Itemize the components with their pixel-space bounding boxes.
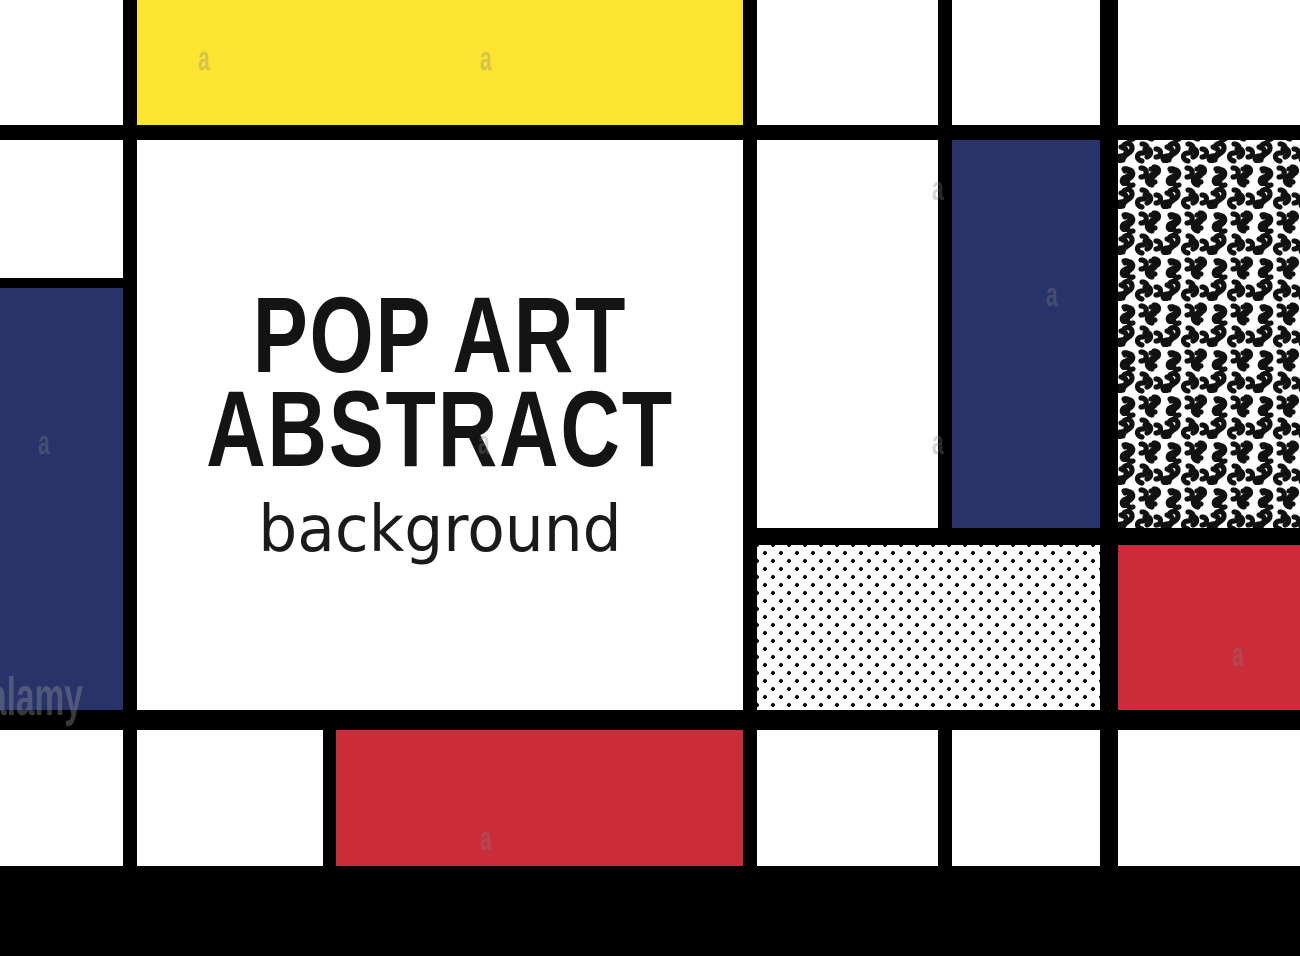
yellow-block-top xyxy=(137,0,743,125)
squiggle-panel xyxy=(1118,140,1300,528)
headline-subtitle: background xyxy=(179,499,701,562)
screenshot-root: POP ART ABSTRACT background xyxy=(0,0,1300,956)
headline-text-group: POP ART ABSTRACT background xyxy=(168,289,712,562)
white-block-r2c1 xyxy=(0,140,123,278)
headline-card: POP ART ABSTRACT background xyxy=(137,140,743,710)
footer-bar: alamy Image ID: T2A02K www.alamy.com xyxy=(0,876,1300,956)
polka-dot-panel xyxy=(757,545,1100,710)
white-block-r4c4 xyxy=(757,730,938,866)
white-block-r1c5 xyxy=(1118,0,1300,125)
white-block-r4c5 xyxy=(952,730,1100,866)
squiggle-pattern-svg xyxy=(1118,140,1300,528)
red-block-bottom xyxy=(336,730,743,866)
blue-block-left xyxy=(0,288,123,710)
white-block-center-tall xyxy=(757,140,938,528)
white-block-r1c4 xyxy=(952,0,1100,125)
white-block-r4c6 xyxy=(1118,730,1300,866)
headline-line-2: ABSTRACT xyxy=(206,377,674,482)
white-block-r1c1 xyxy=(0,0,123,125)
artwork-canvas: POP ART ABSTRACT background xyxy=(0,0,1300,876)
red-block-right xyxy=(1118,545,1300,710)
blue-block-right xyxy=(952,140,1100,528)
white-block-r4c1 xyxy=(0,730,123,866)
white-block-r1c3 xyxy=(757,0,938,125)
white-block-r4c2 xyxy=(137,730,323,866)
